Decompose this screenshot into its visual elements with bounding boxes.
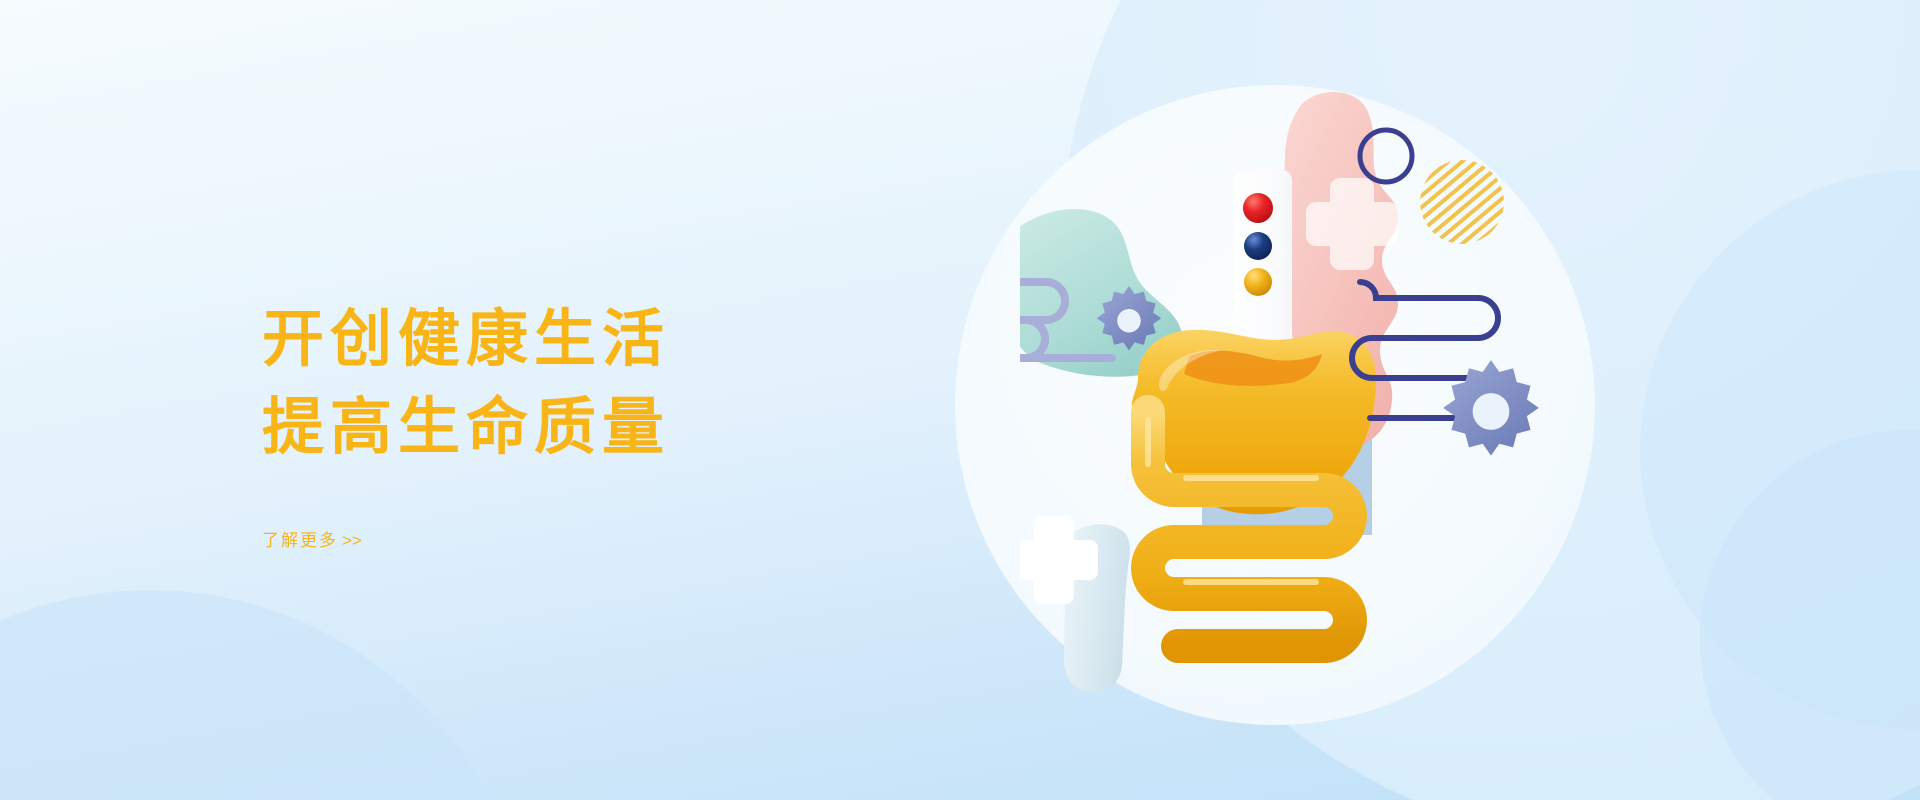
pill-gold bbox=[1244, 268, 1272, 296]
background-circle-right-lower bbox=[1700, 430, 1920, 800]
striped-circle bbox=[1420, 160, 1504, 244]
hero-copy-block: 开创健康生活 提高生命质量 了解更多>> bbox=[262, 296, 962, 551]
digestive-system-illustration bbox=[1020, 60, 1640, 740]
learn-more-link[interactable]: 了解更多>> bbox=[262, 526, 362, 551]
hero-banner: 开创健康生活 提高生命质量 了解更多>> bbox=[0, 0, 1920, 800]
gear-large bbox=[1443, 360, 1539, 456]
headline-line-1: 开创健康生活 bbox=[262, 296, 962, 384]
headline-line-2: 提高生命质量 bbox=[262, 384, 962, 472]
learn-more-label: 了解更多 bbox=[262, 531, 338, 550]
background-circle-bottom-left bbox=[0, 590, 530, 800]
background-circle-right bbox=[1640, 170, 1920, 730]
chevron-right-icon: >> bbox=[342, 531, 362, 550]
pill-red bbox=[1243, 193, 1273, 223]
pill-navy bbox=[1244, 232, 1272, 260]
